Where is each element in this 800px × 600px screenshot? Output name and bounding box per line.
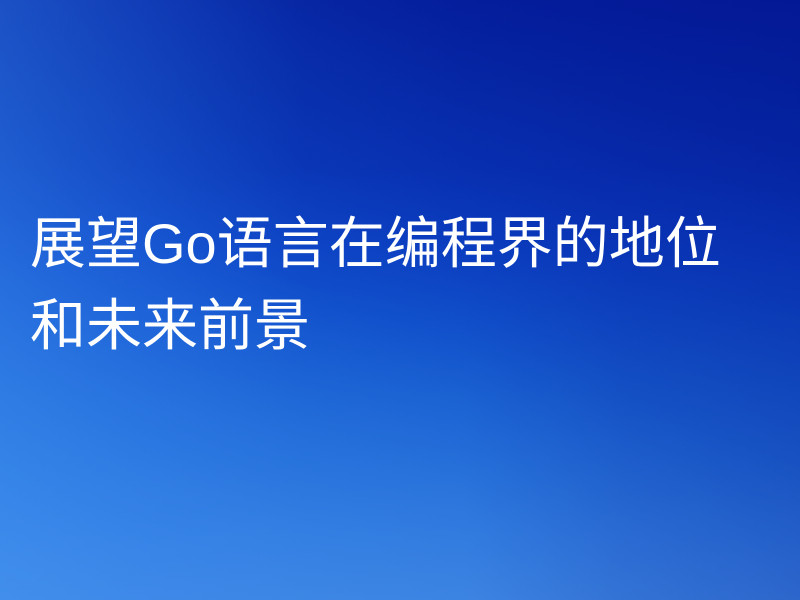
page-title: 展望Go语言在编程界的地位 和未来前景	[30, 203, 782, 367]
title-line-1: 展望Go语言在编程界的地位	[30, 203, 782, 285]
title-line-2: 和未来前景	[30, 285, 782, 367]
title-slide: 展望Go语言在编程界的地位 和未来前景	[0, 0, 800, 600]
